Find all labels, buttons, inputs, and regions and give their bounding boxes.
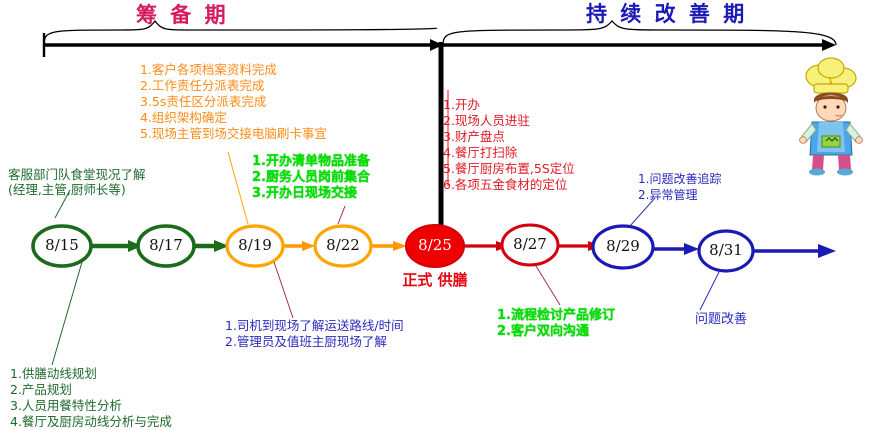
note-planning-item-1: 1.供膳动线规划 — [10, 366, 97, 381]
chef-character-illustration — [800, 58, 863, 176]
node-label-8-22[interactable]: 8/22 — [315, 236, 371, 254]
connector-arrowhead-7 — [684, 243, 699, 255]
note-open-prep-item-2: 2.厨务人员岗前集合 — [252, 170, 370, 185]
node-label-8-25[interactable]: 8/25 — [407, 236, 463, 254]
node-label-8-17[interactable]: 8/17 — [138, 236, 194, 254]
leader-prepdocs-to-8-19 — [228, 152, 248, 224]
note-problem-improvement: 问题改善 — [695, 313, 747, 327]
leader-logistics-to-8-19 — [274, 262, 293, 318]
node-label-8-19[interactable]: 8/19 — [227, 236, 283, 254]
note-opening-task-1: 1.开办 — [443, 98, 480, 113]
leader-review-to-8-27 — [536, 266, 560, 305]
note-review-item-2: 2.客户双向沟通 — [497, 324, 589, 339]
prep-phase-bracket — [44, 21, 437, 45]
note-prep-docs-item-1: 1.客户各项档案资料完成 — [140, 63, 277, 78]
node-label-8-31[interactable]: 8/31 — [698, 241, 754, 259]
note-prep-docs-item-5: 5.现场主管到场交接电脑刷卡事宜 — [140, 127, 327, 142]
note-review-item-1: 1.流程检讨产品修订 — [497, 308, 615, 323]
note-planning-item-2: 2.产品规划 — [10, 382, 72, 397]
node-label-8-29[interactable]: 8/29 — [595, 237, 651, 255]
node-label-8-15[interactable]: 8/15 — [34, 236, 90, 254]
leader-openprep-to-8-22 — [338, 206, 345, 224]
node-label-8-27[interactable]: 8/27 — [502, 235, 558, 253]
note-planning-item-4: 4.餐厅及厨房动线分析与完成 — [10, 414, 172, 429]
leader-problem-to-8-31 — [700, 270, 720, 310]
diagram-vector-layer — [0, 0, 880, 430]
note-open-prep-item-1: 1.开办清单物品准备 — [252, 154, 370, 169]
note-planning-item-3: 3.人员用餐特性分析 — [10, 398, 122, 413]
note-opening-task-3: 3.财产盘点 — [443, 130, 505, 145]
timeline-diagram: 筹 备 期 持 续 改 善 期 1.客户各项档案资料完成 2.工作责任分派表完成… — [0, 0, 880, 430]
note-opening-task-4: 4.餐厅打扫除 — [443, 146, 517, 161]
connector-arrowhead-4 — [393, 241, 407, 251]
note-opening-task-5: 5.餐厅厨房布置,5S定位 — [443, 162, 575, 177]
note-improvement-tracking-2: 2.异常管理 — [638, 188, 697, 202]
note-prep-docs-item-3: 3.5s责任区分派表完成 — [140, 95, 266, 110]
phase-title-continuous-improvement: 持 续 改 善 期 — [586, 2, 747, 27]
note-open-prep-item-3: 3.开办日现场交接 — [252, 186, 357, 201]
note-prep-docs-item-4: 4.组织架构确定 — [140, 111, 227, 126]
note-opening-task-2: 2.现场人员进驻 — [443, 114, 530, 129]
connector-end-arrowhead — [818, 244, 836, 258]
note-prep-docs-item-2: 2.工作责任分派表完成 — [140, 79, 264, 94]
milestone-label-official-meal-service: 正式 供膳 — [400, 272, 470, 289]
connector-arrowhead-3 — [302, 241, 315, 251]
note-improvement-tracking-1: 1.问题改善追踪 — [638, 172, 721, 186]
note-logistics-item-2: 2.管理员及值班主厨现场了解 — [225, 334, 387, 349]
note-service-survey: 客服部门队食堂现况了解 (经理,主管,厨师长等) — [8, 167, 146, 197]
note-opening-task-6: 6.各项五金食材的定位 — [443, 178, 567, 193]
phase-title-preparation: 筹 备 期 — [136, 3, 229, 28]
leader-tracking-to-8-29 — [630, 198, 655, 226]
note-logistics-item-1: 1.司机到现场了解运送路线/时间 — [225, 318, 404, 333]
leader-planning-to-8-15 — [52, 262, 82, 365]
